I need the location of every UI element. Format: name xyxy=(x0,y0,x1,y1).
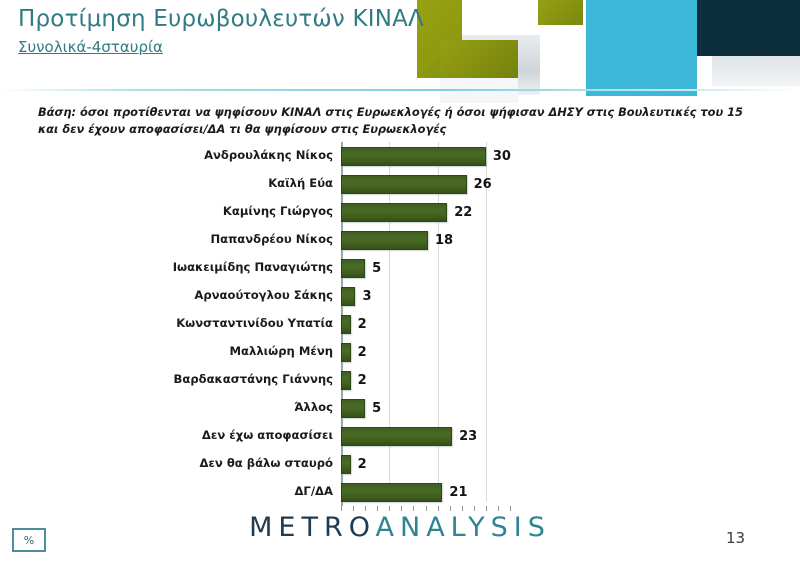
bar-value-label: 21 xyxy=(449,486,467,499)
chart-row: Ανδρουλάκης Νίκος30 xyxy=(0,142,800,170)
axis-tick xyxy=(413,506,414,511)
category-label: Ανδρουλάκης Νίκος xyxy=(0,150,341,162)
chart-row: ΔΓ/ΔΑ21 xyxy=(0,478,800,506)
axis-tick xyxy=(426,506,427,511)
axis-tick xyxy=(341,506,342,511)
logo-text-metro: METRO xyxy=(249,512,375,543)
category-label: ΔΓ/ΔΑ xyxy=(0,486,341,498)
bar-chart: Ανδρουλάκης Νίκος30Καϊλή Εύα26Καμίνης Γι… xyxy=(0,142,800,512)
deco-block-cyan xyxy=(586,0,697,96)
deco-block-white-top xyxy=(462,0,537,35)
category-label: Καϊλή Εύα xyxy=(0,178,341,190)
bar xyxy=(341,343,351,362)
axis-tick xyxy=(450,506,451,511)
bar-value-label: 5 xyxy=(372,402,381,415)
bar-container: 5 xyxy=(341,254,800,282)
bar xyxy=(341,371,351,390)
bar xyxy=(341,399,365,418)
category-label: Δεν θα βάλω σταυρό xyxy=(0,458,341,470)
chart-row: Παπανδρέου Νίκος18 xyxy=(0,226,800,254)
chart-row: Δεν θα βάλω σταυρό2 xyxy=(0,450,800,478)
bar-value-label: 5 xyxy=(372,262,381,275)
bar-container: 2 xyxy=(341,366,800,394)
chart-row: Άλλος5 xyxy=(0,394,800,422)
bar-value-label: 2 xyxy=(358,374,367,387)
bar-container: 5 xyxy=(341,394,800,422)
bar-container: 3 xyxy=(341,282,800,310)
axis-tick xyxy=(462,506,463,511)
category-label: Κωνσταντινίδου Υπατία xyxy=(0,318,341,330)
bar-value-label: 30 xyxy=(493,150,511,163)
chart-row: Καμίνης Γιώργος22 xyxy=(0,198,800,226)
axis-tick xyxy=(401,506,402,511)
chart-row: Βαρδακαστάνης Γιάννης2 xyxy=(0,366,800,394)
logo-text-analysis: ANALYSIS xyxy=(376,512,551,543)
bar-container: 30 xyxy=(341,142,800,170)
chart-row: Κωνσταντινίδου Υπατία2 xyxy=(0,310,800,338)
category-label: Μαλλιώρη Μένη xyxy=(0,346,341,358)
bar xyxy=(341,147,486,166)
bar-container: 2 xyxy=(341,338,800,366)
axis-tick xyxy=(365,506,366,511)
header-divider-line xyxy=(0,89,800,91)
bar-value-label: 26 xyxy=(474,178,492,191)
bar-value-label: 2 xyxy=(358,458,367,471)
axis-tick xyxy=(377,506,378,511)
bar-container: 26 xyxy=(341,170,800,198)
category-label: Βαρδακαστάνης Γιάννης xyxy=(0,374,341,386)
slide-root: Προτίμηση Ευρωβουλευτών ΚΙΝΑΛ Συνολικά-4… xyxy=(0,0,800,562)
category-label: Άλλος xyxy=(0,402,341,414)
base-note: Βάση: όσοι προτίθενται να ψηφίσουν ΚΙΝΑΛ… xyxy=(38,104,758,137)
bar-value-label: 18 xyxy=(435,234,453,247)
page-number: 13 xyxy=(726,529,745,547)
bar-value-label: 22 xyxy=(454,206,472,219)
bar-container: 23 xyxy=(341,422,800,450)
category-label: Καμίνης Γιώργος xyxy=(0,206,341,218)
axis-tick xyxy=(438,506,439,511)
page-title: Προτίμηση Ευρωβουλευτών ΚΙΝΑΛ xyxy=(18,6,424,32)
chart-row: Αρναούτογλου Σάκης3 xyxy=(0,282,800,310)
axis-tick xyxy=(498,506,499,511)
bar xyxy=(341,175,467,194)
deco-block-grey-right xyxy=(712,56,800,86)
chart-row: Μαλλιώρη Μένη2 xyxy=(0,338,800,366)
axis-tick xyxy=(510,506,511,511)
deco-block-olive-small xyxy=(538,0,583,25)
category-label: Δεν έχω αποφασίσει xyxy=(0,430,341,442)
chart-rows: Ανδρουλάκης Νίκος30Καϊλή Εύα26Καμίνης Γι… xyxy=(0,142,800,506)
metron-analysis-logo: METROANALYSIS xyxy=(0,512,800,543)
bar-value-label: 23 xyxy=(459,430,477,443)
axis-tick xyxy=(389,506,390,511)
bar-container: 21 xyxy=(341,478,800,506)
bar-container: 18 xyxy=(341,226,800,254)
bar xyxy=(341,455,351,474)
bar xyxy=(341,427,452,446)
bar xyxy=(341,315,351,334)
bar xyxy=(341,203,447,222)
category-label: Παπανδρέου Νίκος xyxy=(0,234,341,246)
page-subtitle: Συνολικά-4σταυρία xyxy=(18,38,163,56)
bar xyxy=(341,483,442,502)
axis-tick xyxy=(486,506,487,511)
bar xyxy=(341,287,355,306)
chart-row: Δεν έχω αποφασίσει23 xyxy=(0,422,800,450)
axis-tick xyxy=(353,506,354,511)
bar xyxy=(341,231,428,250)
bar-value-label: 2 xyxy=(358,318,367,331)
chart-row: Καϊλή Εύα26 xyxy=(0,170,800,198)
chart-row: Ιωακειμίδης Παναγιώτης5 xyxy=(0,254,800,282)
bar xyxy=(341,259,365,278)
bar-value-label: 3 xyxy=(362,290,371,303)
category-label: Αρναούτογλου Σάκης xyxy=(0,290,341,302)
bar-container: 22 xyxy=(341,198,800,226)
bar-container: 2 xyxy=(341,310,800,338)
category-label: Ιωακειμίδης Παναγιώτης xyxy=(0,262,341,274)
axis-tick xyxy=(474,506,475,511)
bar-container: 2 xyxy=(341,450,800,478)
deco-block-navy xyxy=(697,0,800,56)
bar-value-label: 2 xyxy=(358,346,367,359)
